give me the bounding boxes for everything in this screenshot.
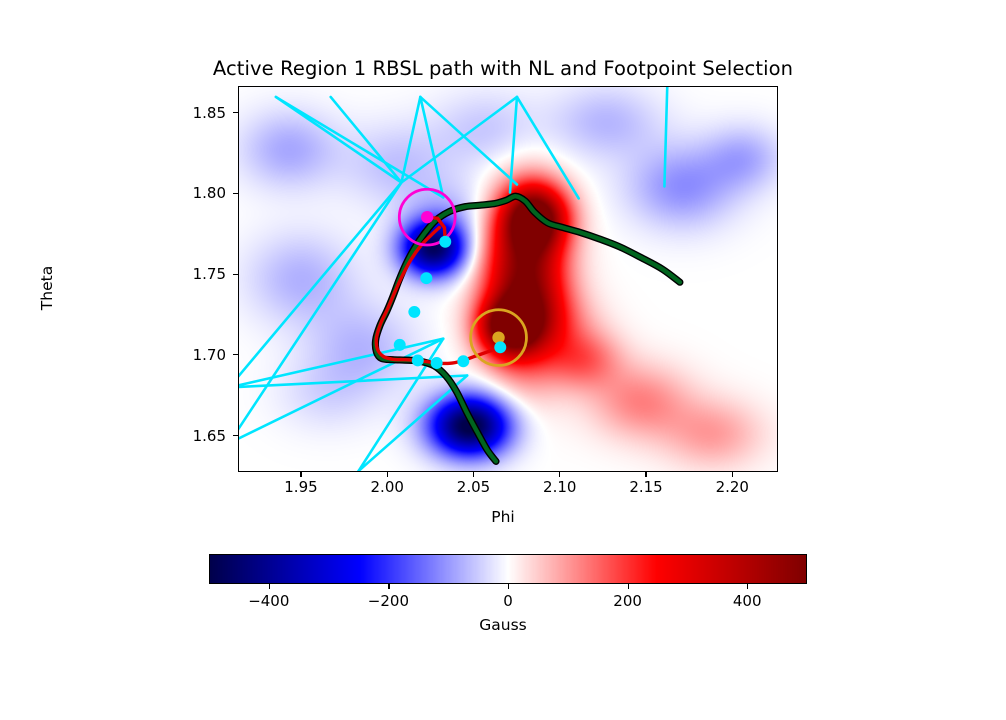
x-tick-mark bbox=[387, 472, 388, 477]
y-tick-mark bbox=[233, 112, 238, 113]
colorbar-tick-mark bbox=[628, 584, 629, 589]
colorbar-gradient bbox=[209, 554, 807, 584]
colorbar-tick-mark bbox=[388, 584, 389, 589]
x-tick-mark bbox=[732, 472, 733, 477]
selection-marker[interactable] bbox=[420, 272, 432, 284]
selection-ray bbox=[517, 97, 579, 198]
footpoint-center-negative[interactable] bbox=[421, 211, 433, 223]
y-tick-label: 1.70 bbox=[193, 346, 226, 364]
selection-marker[interactable] bbox=[439, 236, 451, 248]
magnetogram-axes[interactable] bbox=[238, 86, 778, 472]
selection-ray bbox=[420, 97, 517, 185]
selection-marker[interactable] bbox=[394, 339, 406, 351]
colorbar-tick-mark bbox=[747, 584, 748, 589]
x-tick-label: 2.20 bbox=[716, 478, 749, 496]
colorbar-tick-label: −200 bbox=[368, 592, 409, 610]
x-tick-labels: 1.952.002.052.102.152.20 bbox=[0, 478, 1006, 502]
selection-marker[interactable] bbox=[408, 306, 420, 318]
y-axis-label: Theta bbox=[38, 228, 56, 348]
x-tick-label: 2.00 bbox=[371, 478, 404, 496]
x-tick-mark bbox=[473, 472, 474, 477]
colorbar-tick-label: 400 bbox=[733, 592, 762, 610]
colorbar: −400−2000200400 bbox=[209, 554, 807, 584]
selection-ray bbox=[664, 87, 667, 186]
y-tick-mark bbox=[233, 435, 238, 436]
x-tick-label: 1.95 bbox=[284, 478, 317, 496]
selection-ray bbox=[239, 339, 443, 443]
colorbar-tick-label: −400 bbox=[248, 592, 289, 610]
y-tick-mark bbox=[233, 354, 238, 355]
selection-ray-group bbox=[239, 87, 667, 471]
colorbar-tick-mark bbox=[508, 584, 509, 589]
y-tick-mark bbox=[233, 193, 238, 194]
selection-ray bbox=[359, 375, 468, 471]
selection-ray bbox=[331, 97, 402, 183]
colorbar-tick-label: 0 bbox=[503, 592, 513, 610]
colorbar-tick-label: 200 bbox=[613, 592, 642, 610]
selection-marker[interactable] bbox=[431, 357, 443, 369]
page-title: Active Region 1 RBSL path with NL and Fo… bbox=[0, 57, 1006, 80]
x-tick-mark bbox=[300, 472, 301, 477]
y-tick-label: 1.65 bbox=[193, 427, 226, 445]
footpoint-circle-group[interactable] bbox=[399, 189, 526, 365]
selection-ray bbox=[420, 97, 443, 197]
x-tick-label: 2.15 bbox=[629, 478, 662, 496]
neutral-line bbox=[375, 196, 679, 461]
y-tick-mark bbox=[233, 274, 238, 275]
x-axis-label: Phi bbox=[0, 508, 1006, 526]
overlay-layer bbox=[239, 87, 777, 471]
x-tick-mark bbox=[645, 472, 646, 477]
selection-marker[interactable] bbox=[412, 354, 424, 366]
y-tick-label: 1.85 bbox=[193, 104, 226, 122]
selection-marker[interactable] bbox=[494, 341, 506, 353]
figure-canvas: Active Region 1 RBSL path with NL and Fo… bbox=[0, 0, 1006, 720]
y-tick-label: 1.75 bbox=[193, 265, 226, 283]
colorbar-label: Gauss bbox=[0, 616, 1006, 634]
x-tick-label: 2.05 bbox=[457, 478, 490, 496]
y-tick-labels: 1.651.701.751.801.85 bbox=[160, 0, 226, 720]
colorbar-canvas bbox=[210, 555, 806, 583]
selection-marker[interactable] bbox=[457, 355, 469, 367]
y-tick-label: 1.80 bbox=[193, 184, 226, 202]
x-tick-label: 2.10 bbox=[543, 478, 576, 496]
neutral-line-group bbox=[375, 196, 679, 461]
selection-ray bbox=[276, 97, 402, 183]
colorbar-tick-mark bbox=[269, 584, 270, 589]
selection-ray bbox=[239, 183, 401, 444]
x-tick-mark bbox=[559, 472, 560, 477]
